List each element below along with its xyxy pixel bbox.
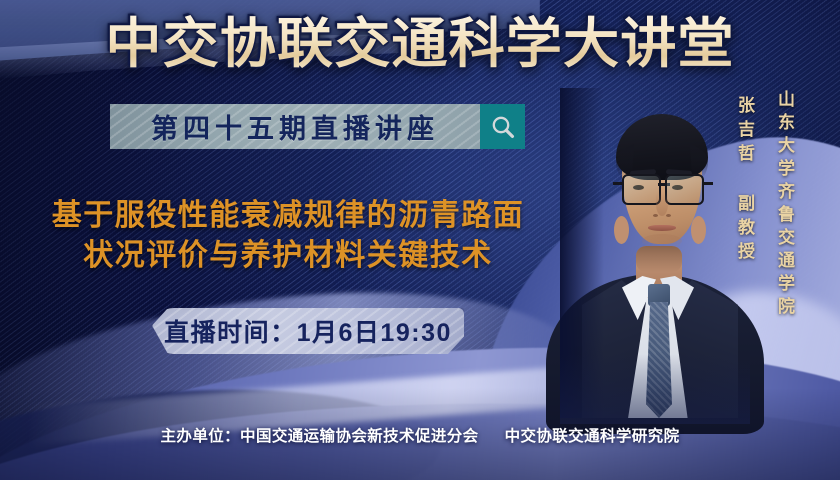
glasses-arm-right	[704, 182, 713, 185]
speaker-organization: 山东大学齐鲁交通学院	[772, 90, 797, 320]
nose	[656, 192, 668, 216]
organizer-prefix: 主办单位：	[161, 428, 241, 445]
organizer-name-1: 中国交通运输协会新技术促进分会	[240, 428, 479, 445]
ear-right	[691, 216, 706, 244]
session-label: 第四十五期直播讲座	[151, 107, 439, 146]
topic-line-2: 状况评价与养护材料关键技术	[8, 236, 568, 276]
broadcast-time-badge: 直播时间：1月6日19:30	[152, 308, 464, 354]
speaker-name-title: 张吉哲 副教授	[732, 96, 757, 266]
webinar-poster: 中交协联交通科学大讲堂 第四十五期直播讲座 基于服役性能衰减规律的沥青路面 状况…	[0, 0, 840, 480]
session-label-bar: 第四十五期直播讲座	[110, 104, 480, 149]
glasses-lens-right	[665, 174, 704, 205]
broadcast-time-label: 直播时间：1月6日19:30	[164, 313, 452, 349]
lecture-topic: 基于服役性能衰减规律的沥青路面 状况评价与养护材料关键技术	[8, 196, 568, 276]
chin-shadow	[642, 234, 682, 248]
mouth	[648, 225, 676, 231]
photo-bottom-fade	[560, 354, 750, 424]
organizers-line: 主办单位：中国交通运输协会新技术促进分会中交协联交通科学研究院	[0, 424, 840, 446]
nostril-right	[666, 214, 671, 217]
session-banner: 第四十五期直播讲座	[110, 104, 525, 149]
search-icon[interactable]	[480, 104, 525, 149]
page-title: 中交协联交通科学大讲堂	[0, 14, 840, 74]
nostril-left	[653, 214, 658, 217]
ear-left	[614, 216, 629, 244]
presenter-photo	[560, 88, 750, 418]
topic-line-1: 基于服役性能衰减规律的沥青路面	[52, 199, 525, 232]
organizer-name-2: 中交协联交通科学研究院	[505, 428, 680, 445]
glasses-arm-left	[613, 182, 622, 185]
